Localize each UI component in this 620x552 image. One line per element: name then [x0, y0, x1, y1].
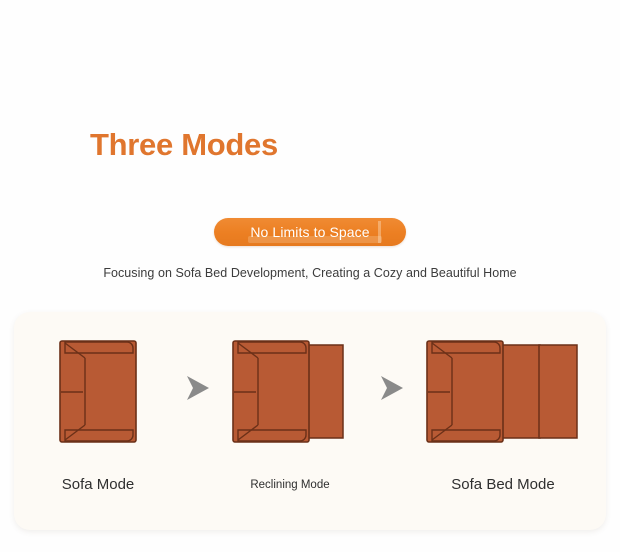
- sofa-illustration-reclining-mode: [232, 340, 344, 443]
- mode-label-sofa-mode: Sofa Mode: [40, 476, 156, 493]
- arrow-2-icon: [370, 368, 410, 408]
- mode-label-sofa-bed-mode: Sofa Bed Mode: [442, 476, 564, 493]
- sofa-illustration-sofa-mode: [59, 340, 137, 443]
- sofa-illustration-sofa-bed-mode: [426, 340, 578, 443]
- modes-row: Sofa Mode Reclining Mode Sofa Bed Mode: [14, 312, 606, 530]
- modes-card: Sofa Mode Reclining Mode Sofa Bed Mode: [14, 312, 606, 530]
- mode-label-reclining-mode: Reclining Mode: [230, 479, 350, 491]
- page-root: Three Modes No Limits to Space Focusing …: [0, 0, 620, 552]
- tagline-badge-label: No Limits to Space: [214, 218, 406, 246]
- page-subtitle: Focusing on Sofa Bed Development, Creati…: [0, 266, 620, 280]
- page-title: Three Modes: [90, 128, 278, 162]
- arrow-1-icon: [176, 368, 216, 408]
- tagline-badge: No Limits to Space: [214, 218, 406, 246]
